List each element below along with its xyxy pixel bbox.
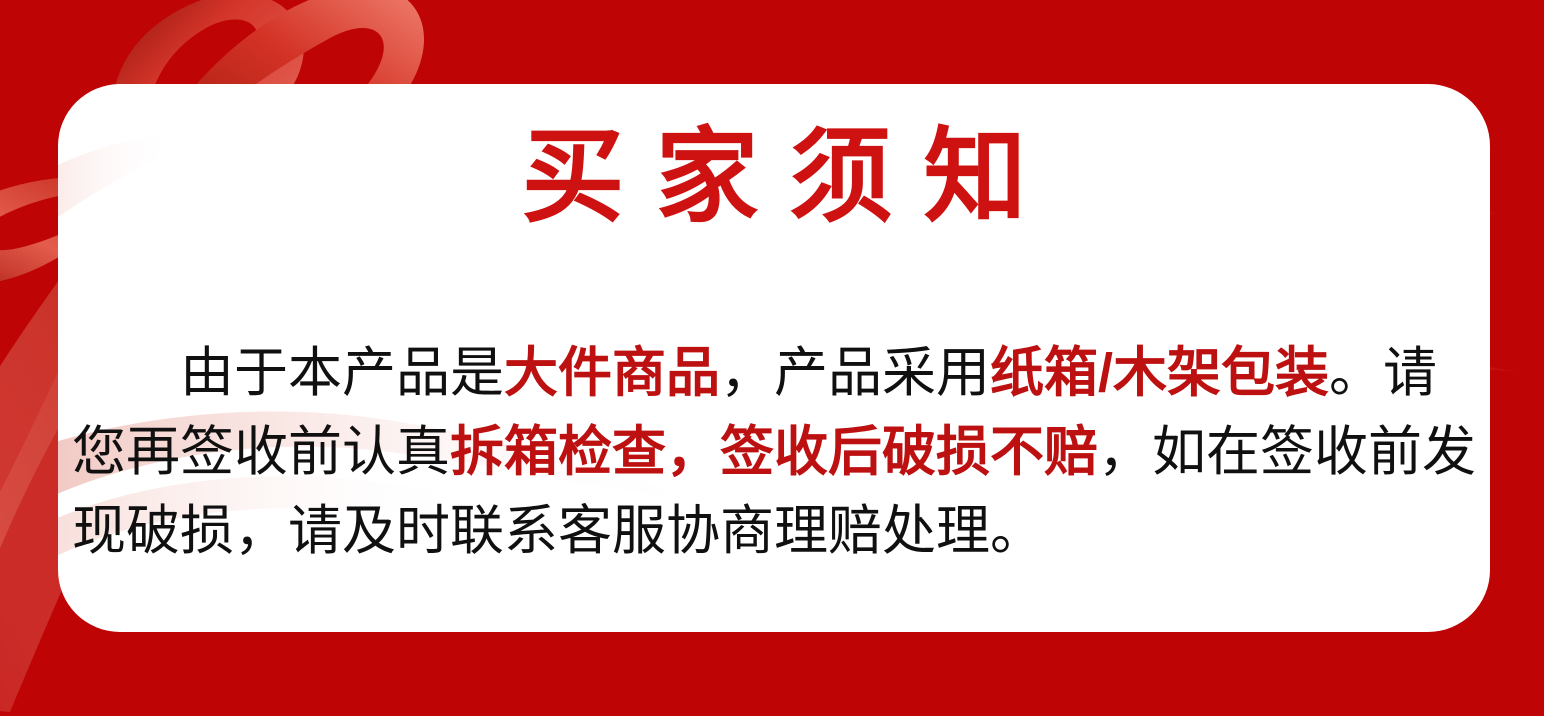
body-segment-emphasis-1: 大件商品 xyxy=(504,343,720,403)
notice-body-text: 由于本产品是大件商品，产品采用纸箱/木架包装。请您再签收前认真拆箱检查，签收后破… xyxy=(72,334,1476,571)
body-segment-emphasis-2: 纸箱/木架包装 xyxy=(990,343,1329,403)
body-segment-plain-2: ，产品采用 xyxy=(720,343,990,403)
page-title: 买家须知 xyxy=(58,122,1490,232)
body-segment-plain-1: 由于本产品是 xyxy=(180,343,504,403)
body-segment-emphasis-3: 拆箱检查，签收后破损不赔 xyxy=(450,422,1098,482)
notice-card: 买家须知 由于本产品是大件商品，产品采用纸箱/木架包装。请您再签收前认真拆箱检查… xyxy=(58,84,1490,632)
notice-banner: 买家须知 由于本产品是大件商品，产品采用纸箱/木架包装。请您再签收前认真拆箱检查… xyxy=(0,0,1544,716)
